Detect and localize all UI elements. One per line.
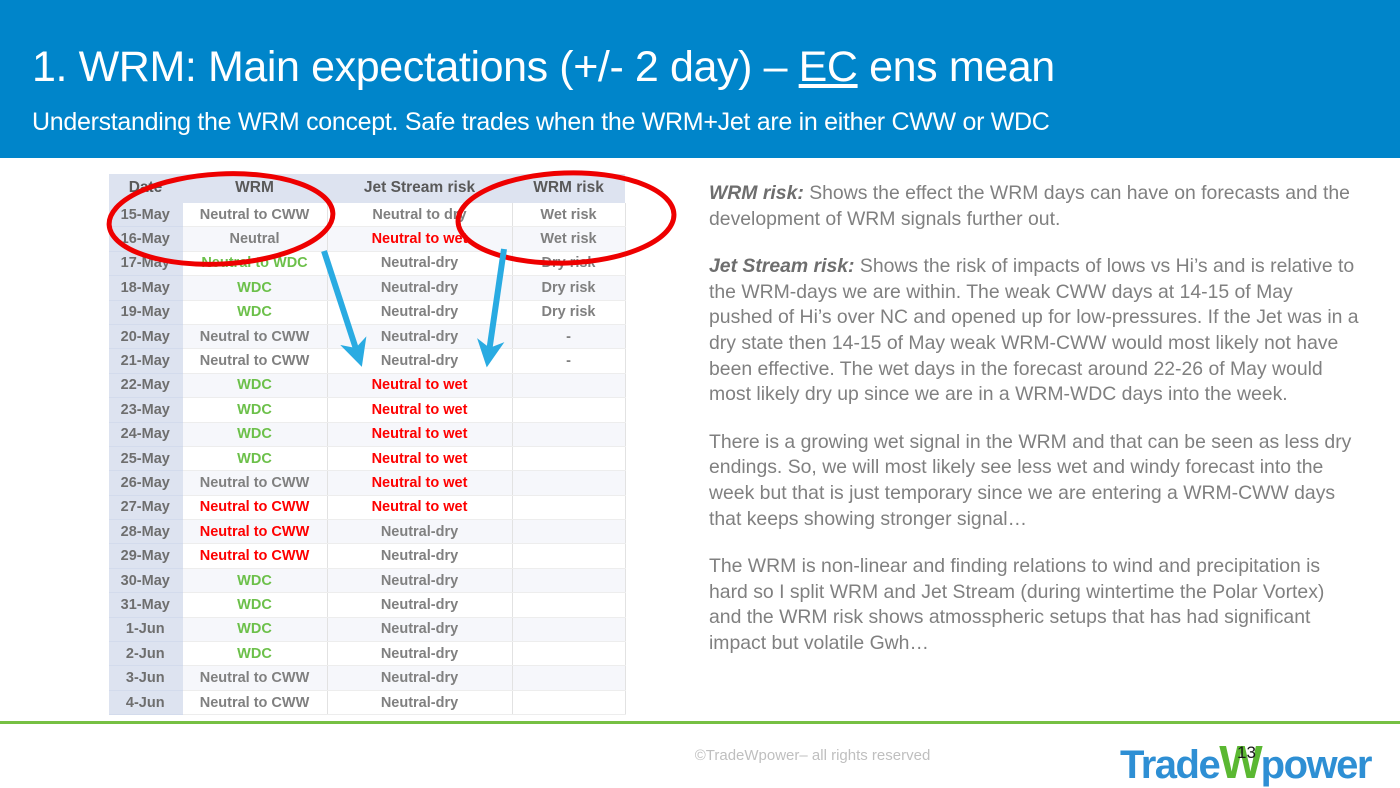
table-row: 3-JunNeutral to CWWNeutral-dry	[109, 666, 625, 690]
table-row: 21-MayNeutral to CWWNeutral-dry-	[109, 349, 625, 373]
page-title-part-1: 1. WRM: Main expectations (+/- 2 day) –	[32, 43, 799, 91]
cell-wrm-risk	[512, 666, 625, 690]
logo-text-power: power	[1261, 743, 1371, 787]
slide-canvas: 1. WRM: Main expectations (+/- 2 day) – …	[0, 0, 1400, 788]
cell-wrm: Neutral to WDC	[182, 251, 327, 275]
cell-wrm: WDC	[182, 300, 327, 324]
table-row: 16-MayNeutralNeutral to wetWet risk	[109, 227, 625, 251]
cell-date: 30-May	[109, 568, 182, 592]
cell-jet-stream-risk: Neutral-dry	[327, 544, 512, 568]
cell-wrm-risk	[512, 471, 625, 495]
table-body: 15-MayNeutral to CWWNeutral to dryWet ri…	[109, 203, 625, 715]
cell-wrm-risk	[512, 544, 625, 568]
cell-date: 29-May	[109, 544, 182, 568]
cell-jet-stream-risk: Neutral-dry	[327, 349, 512, 373]
cell-wrm-risk: Dry risk	[512, 300, 625, 324]
cell-date: 15-May	[109, 203, 182, 227]
cell-jet-stream-risk: Neutral-dry	[327, 666, 512, 690]
page-subtitle: Understanding the WRM concept. Safe trad…	[32, 110, 1050, 135]
column-header-jet-stream-risk: Jet Stream risk	[327, 174, 512, 203]
cell-wrm: Neutral to CWW	[182, 520, 327, 544]
cell-jet-stream-risk: Neutral-dry	[327, 300, 512, 324]
table-header-row: Date WRM Jet Stream risk WRM risk	[109, 174, 625, 203]
table-row: 29-MayNeutral to CWWNeutral-dry	[109, 544, 625, 568]
cell-date: 4-Jun	[109, 690, 182, 714]
cell-wrm: WDC	[182, 276, 327, 300]
cell-wrm-risk: Wet risk	[512, 203, 625, 227]
cell-date: 17-May	[109, 251, 182, 275]
note-paragraph-non-linear: The WRM is non-linear and finding relati…	[709, 554, 1361, 656]
cell-wrm-risk	[512, 520, 625, 544]
cell-wrm-risk: Wet risk	[512, 227, 625, 251]
cell-date: 20-May	[109, 324, 182, 348]
table-row: 15-MayNeutral to CWWNeutral to dryWet ri…	[109, 203, 625, 227]
cell-jet-stream-risk: Neutral-dry	[327, 276, 512, 300]
cell-date: 25-May	[109, 446, 182, 470]
cell-date: 27-May	[109, 495, 182, 519]
cell-wrm: Neutral to CWW	[182, 203, 327, 227]
cell-jet-stream-risk: Neutral to wet	[327, 373, 512, 397]
cell-wrm-risk	[512, 593, 625, 617]
table-row: 2-JunWDCNeutral-dry	[109, 642, 625, 666]
page-number: 13	[1237, 743, 1256, 763]
cell-wrm: WDC	[182, 593, 327, 617]
cell-date: 19-May	[109, 300, 182, 324]
cell-jet-stream-risk: Neutral to wet	[327, 398, 512, 422]
cell-wrm-risk: Dry risk	[512, 276, 625, 300]
copyright-text: ©TradeWpower– all rights reserved	[540, 747, 1085, 764]
cell-jet-stream-risk: Neutral to wet	[327, 495, 512, 519]
cell-wrm: Neutral	[182, 227, 327, 251]
cell-date: 26-May	[109, 471, 182, 495]
cell-date: 3-Jun	[109, 666, 182, 690]
column-header-wrm-risk: WRM risk	[512, 174, 625, 203]
cell-jet-stream-risk: Neutral-dry	[327, 568, 512, 592]
cell-wrm: WDC	[182, 398, 327, 422]
cell-wrm: Neutral to CWW	[182, 690, 327, 714]
note-paragraph-jet-stream-risk: Jet Stream risk: Shows the risk of impac…	[709, 254, 1361, 408]
cell-wrm-risk: Dry risk	[512, 251, 625, 275]
cell-wrm-risk	[512, 642, 625, 666]
cell-jet-stream-risk: Neutral to wet	[327, 471, 512, 495]
cell-jet-stream-risk: Neutral-dry	[327, 251, 512, 275]
cell-jet-stream-risk: Neutral to wet	[327, 227, 512, 251]
notes-panel: WRM risk: Shows the effect the WRM days …	[709, 181, 1361, 657]
table-row: 25-MayWDCNeutral to wet	[109, 446, 625, 470]
table-row: 19-MayWDCNeutral-dryDry risk	[109, 300, 625, 324]
page-title-underlined: EC	[799, 43, 858, 91]
table-row: 31-MayWDCNeutral-dry	[109, 593, 625, 617]
header-band: 1. WRM: Main expectations (+/- 2 day) – …	[0, 0, 1400, 158]
table-row: 27-MayNeutral to CWWNeutral to wet	[109, 495, 625, 519]
cell-wrm: Neutral to CWW	[182, 471, 327, 495]
table-row: 17-MayNeutral to WDCNeutral-dryDry risk	[109, 251, 625, 275]
table-header: Date WRM Jet Stream risk WRM risk	[109, 174, 625, 203]
cell-wrm: WDC	[182, 446, 327, 470]
cell-date: 31-May	[109, 593, 182, 617]
page-title: 1. WRM: Main expectations (+/- 2 day) – …	[32, 46, 1055, 89]
page-title-part-2: ens mean	[858, 43, 1055, 91]
note-body-jet-stream-risk: Shows the risk of impacts of lows vs Hi’…	[709, 255, 1359, 405]
cell-jet-stream-risk: Neutral-dry	[327, 617, 512, 641]
cell-jet-stream-risk: Neutral to wet	[327, 446, 512, 470]
wrm-forecast-table-container: Date WRM Jet Stream risk WRM risk 15-May…	[109, 174, 625, 715]
wrm-forecast-table: Date WRM Jet Stream risk WRM risk 15-May…	[109, 174, 626, 715]
cell-wrm: Neutral to CWW	[182, 495, 327, 519]
cell-wrm: WDC	[182, 617, 327, 641]
cell-wrm-risk	[512, 398, 625, 422]
cell-wrm-risk	[512, 617, 625, 641]
cell-date: 16-May	[109, 227, 182, 251]
cell-jet-stream-risk: Neutral-dry	[327, 520, 512, 544]
table-row: 4-JunNeutral to CWWNeutral-dry	[109, 690, 625, 714]
cell-wrm: WDC	[182, 642, 327, 666]
table-row: 26-MayNeutral to CWWNeutral to wet	[109, 471, 625, 495]
cell-wrm: Neutral to CWW	[182, 324, 327, 348]
cell-date: 2-Jun	[109, 642, 182, 666]
cell-wrm-risk	[512, 422, 625, 446]
table-row: 1-JunWDCNeutral-dry	[109, 617, 625, 641]
cell-wrm-risk: -	[512, 324, 625, 348]
cell-jet-stream-risk: Neutral-dry	[327, 690, 512, 714]
footer-divider	[0, 721, 1400, 724]
cell-jet-stream-risk: Neutral-dry	[327, 642, 512, 666]
note-body-wrm-risk: Shows the effect the WRM days can have o…	[709, 182, 1350, 230]
cell-wrm: Neutral to CWW	[182, 666, 327, 690]
cell-wrm: WDC	[182, 373, 327, 397]
cell-date: 24-May	[109, 422, 182, 446]
cell-wrm-risk	[512, 690, 625, 714]
column-header-wrm: WRM	[182, 174, 327, 203]
cell-wrm-risk	[512, 495, 625, 519]
table-row: 30-MayWDCNeutral-dry	[109, 568, 625, 592]
cell-wrm-risk	[512, 446, 625, 470]
cell-wrm: WDC	[182, 422, 327, 446]
cell-wrm: Neutral to CWW	[182, 544, 327, 568]
cell-date: 21-May	[109, 349, 182, 373]
note-paragraph-wrm-risk: WRM risk: Shows the effect the WRM days …	[709, 181, 1361, 232]
cell-date: 28-May	[109, 520, 182, 544]
cell-wrm: WDC	[182, 568, 327, 592]
cell-wrm-risk	[512, 373, 625, 397]
cell-wrm: Neutral to CWW	[182, 349, 327, 373]
column-header-date: Date	[109, 174, 182, 203]
table-row: 28-MayNeutral to CWWNeutral-dry	[109, 520, 625, 544]
note-lead-wrm-risk: WRM risk:	[709, 182, 804, 204]
cell-wrm-risk	[512, 568, 625, 592]
cell-date: 22-May	[109, 373, 182, 397]
cell-jet-stream-risk: Neutral to wet	[327, 422, 512, 446]
table-row: 20-MayNeutral to CWWNeutral-dry-	[109, 324, 625, 348]
cell-date: 18-May	[109, 276, 182, 300]
note-lead-jet-stream-risk: Jet Stream risk:	[709, 255, 855, 277]
table-row: 23-MayWDCNeutral to wet	[109, 398, 625, 422]
cell-date: 1-Jun	[109, 617, 182, 641]
cell-jet-stream-risk: Neutral to dry	[327, 203, 512, 227]
logo-text-trade: Trade	[1120, 743, 1219, 787]
note-paragraph-wet-signal: There is a growing wet signal in the WRM…	[709, 430, 1361, 532]
table-row: 24-MayWDCNeutral to wet	[109, 422, 625, 446]
cell-wrm-risk: -	[512, 349, 625, 373]
table-row: 22-MayWDCNeutral to wet	[109, 373, 625, 397]
cell-date: 23-May	[109, 398, 182, 422]
table-row: 18-MayWDCNeutral-dryDry risk	[109, 276, 625, 300]
cell-jet-stream-risk: Neutral-dry	[327, 324, 512, 348]
cell-jet-stream-risk: Neutral-dry	[327, 593, 512, 617]
